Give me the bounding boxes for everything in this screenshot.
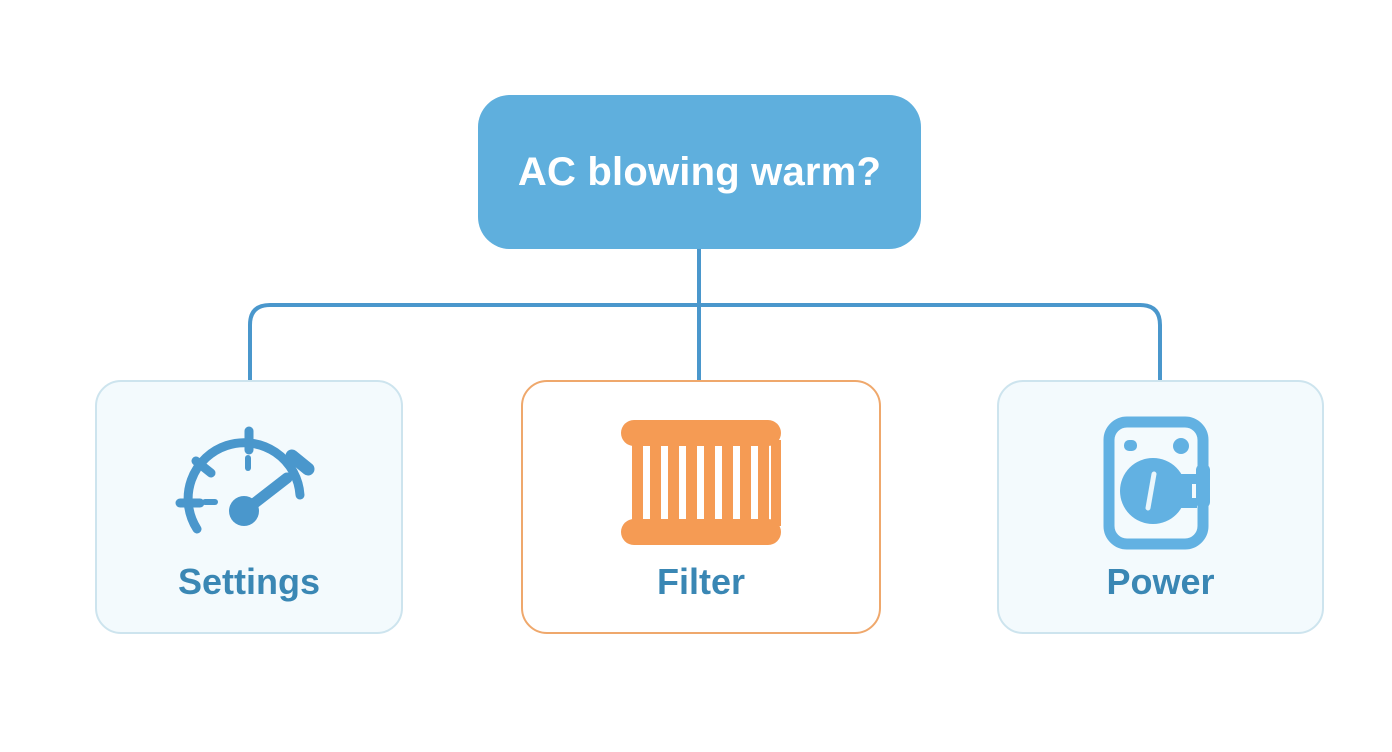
- node-card-power[interactable]: Power: [997, 380, 1324, 634]
- gauge-icon: [174, 423, 324, 543]
- node-card-settings[interactable]: Settings: [95, 380, 403, 634]
- power-icon-wrapper: [1096, 408, 1226, 558]
- node-card-settings-label: Settings: [178, 564, 320, 600]
- node-card-filter[interactable]: Filter: [521, 380, 881, 634]
- filter-pleats: [632, 440, 781, 526]
- node-card-power-label: Power: [1106, 564, 1214, 600]
- filter-bottom-bar: [621, 519, 781, 545]
- power-plug-prongs: [1179, 474, 1197, 508]
- power-plug-panel-icon: [1096, 416, 1226, 551]
- power-indicator-dot: [1173, 438, 1189, 454]
- connector-branch-left: [250, 305, 699, 382]
- filter-icon-wrapper: [616, 408, 786, 558]
- diagram-canvas: AC blowing warm?: [0, 0, 1392, 752]
- power-indicator-square: [1124, 440, 1137, 451]
- root-node-ac-blowing-warm[interactable]: AC blowing warm?: [478, 95, 921, 249]
- root-node-label: AC blowing warm?: [518, 150, 881, 194]
- air-filter-icon: [616, 418, 786, 548]
- filter-top-bar: [621, 420, 781, 446]
- connector-branch-right: [699, 305, 1160, 382]
- settings-icon-wrapper: [174, 408, 324, 558]
- node-card-filter-label: Filter: [657, 564, 745, 600]
- gauge-hub: [229, 496, 259, 526]
